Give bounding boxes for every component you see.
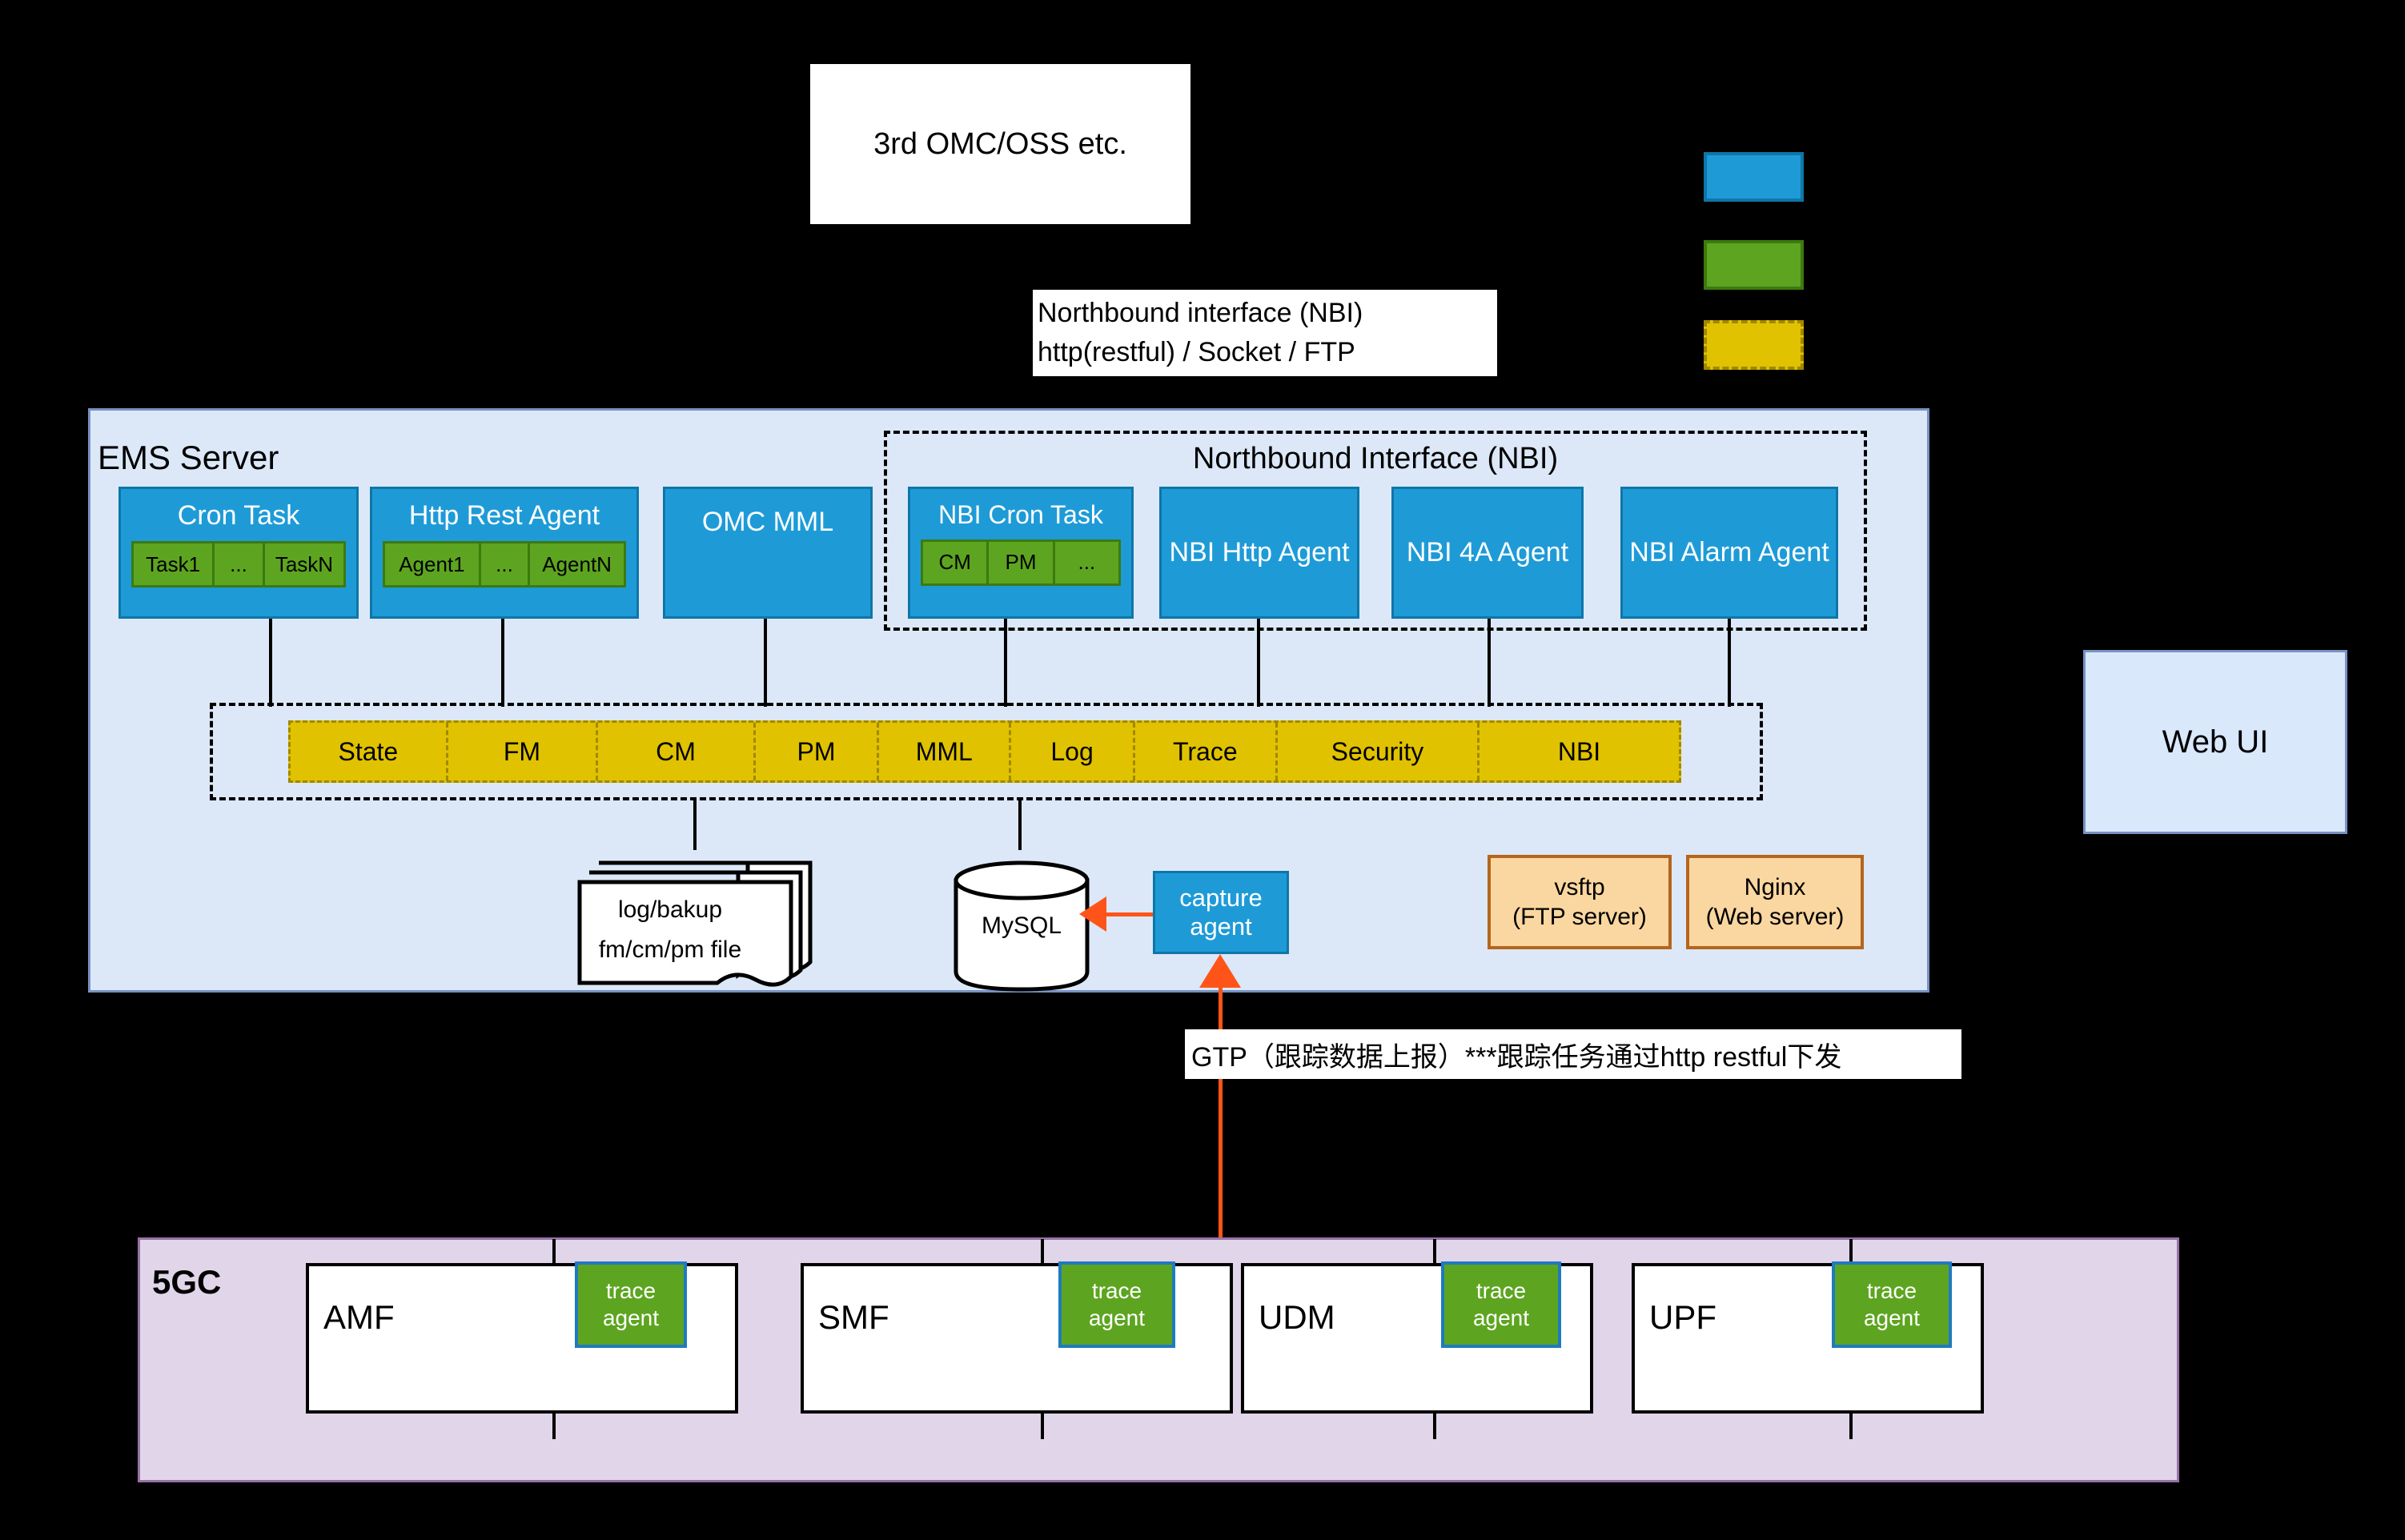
http-rest-agent-sub-2[interactable]: AgentN	[530, 543, 624, 585]
gtp-note: GTP（跟踪数据上报）***跟踪任务通过http restful下发	[1185, 1029, 1961, 1079]
log-backup-line2: fm/cm/pm file	[570, 936, 770, 964]
service-log[interactable]: Log	[1011, 723, 1134, 780]
web-ui-panel[interactable]: Web UI	[2083, 650, 2347, 834]
component-nbi-alarm-agent[interactable]: NBI Alarm Agent	[1620, 487, 1838, 619]
service-bar: State FM CM PM MML Log Trace Security NB…	[288, 720, 1681, 783]
component-capture-agent[interactable]: capture agent	[1153, 871, 1289, 954]
nbi-cron-task-subitems: CM PM ...	[921, 539, 1121, 586]
trace-agent-udm[interactable]: trace agent	[1441, 1261, 1561, 1348]
connector-nbi-cron-task	[1004, 619, 1007, 707]
http-rest-agent-subitems: Agent1 ... AgentN	[383, 541, 626, 588]
connector-servicebar-to-files	[693, 800, 697, 850]
trace-agent-udm-line2: agent	[1473, 1305, 1529, 1332]
service-pm[interactable]: PM	[756, 723, 879, 780]
connector-nbi-alarm-agent	[1728, 619, 1731, 707]
trace-agent-upf-line2: agent	[1864, 1305, 1920, 1332]
capture-agent-line1: capture	[1155, 884, 1287, 912]
cron-task-subitems: Task1 ... TaskN	[131, 541, 346, 588]
nbi-cron-task-sub-2[interactable]: ...	[1055, 542, 1118, 584]
server-vsftp-line1: vsftp	[1554, 872, 1604, 903]
service-fm[interactable]: FM	[448, 723, 598, 780]
trace-agent-amf-line2: agent	[603, 1305, 659, 1332]
service-trace[interactable]: Trace	[1135, 723, 1278, 780]
connector-nbi-4a-agent	[1488, 619, 1491, 707]
trace-agent-amf-line1: trace	[606, 1277, 656, 1305]
core-network-title: 5GC	[152, 1263, 221, 1301]
component-nbi-cron-task-title: NBI Cron Task	[910, 500, 1131, 530]
gtp-trunk-vertical	[1219, 986, 1223, 1245]
connector-nbi-http-agent	[1257, 619, 1260, 707]
trace-agent-smf-line2: agent	[1089, 1305, 1145, 1332]
component-omc-mml-title: OMC MML	[665, 507, 870, 538]
component-nbi-4a-agent[interactable]: NBI 4A Agent	[1391, 487, 1584, 619]
service-nbi[interactable]: NBI	[1480, 723, 1679, 780]
cron-task-sub-1[interactable]: ...	[215, 543, 265, 585]
component-cron-task-title: Cron Task	[121, 500, 356, 531]
component-http-rest-agent-title: Http Rest Agent	[372, 500, 636, 531]
component-nbi-4a-agent-title: NBI 4A Agent	[1376, 537, 1599, 568]
nbi-note-line1: Northbound interface (NBI)	[1038, 294, 1363, 333]
legend-swatch-green	[1704, 240, 1804, 290]
nbi-cron-task-sub-0[interactable]: CM	[923, 542, 989, 584]
trace-agent-upf[interactable]: trace agent	[1832, 1261, 1952, 1348]
nbi-note-line2: http(restful) / Socket / FTP	[1038, 333, 1355, 372]
service-security[interactable]: Security	[1278, 723, 1480, 780]
nbi-cron-task-sub-1[interactable]: PM	[989, 542, 1054, 584]
component-nbi-http-agent[interactable]: NBI Http Agent	[1159, 487, 1359, 619]
legend-swatch-blue	[1704, 152, 1804, 202]
arrow-capture-to-mysql-head	[1079, 896, 1106, 932]
trace-agent-smf-line1: trace	[1092, 1277, 1142, 1305]
gtp-note-label: GTP（跟踪数据上报）***跟踪任务通过http restful下发	[1191, 1035, 1841, 1074]
http-rest-agent-sub-0[interactable]: Agent1	[385, 543, 481, 585]
server-nginx[interactable]: Nginx (Web server)	[1686, 855, 1864, 949]
server-vsftp-line2: (FTP server)	[1512, 902, 1647, 932]
third-party-omc-oss-box: 3rd OMC/OSS etc.	[810, 64, 1190, 224]
web-ui-label: Web UI	[2162, 724, 2269, 760]
capture-agent-line2: agent	[1155, 912, 1287, 941]
service-cm[interactable]: CM	[598, 723, 756, 780]
gtp-trunk-arrowhead	[1199, 954, 1241, 988]
server-nginx-line2: (Web server)	[1706, 902, 1845, 932]
trace-agent-smf[interactable]: trace agent	[1058, 1261, 1175, 1348]
log-backup-line1: log/bakup	[570, 896, 770, 924]
nf-amf-label: AMF	[323, 1298, 395, 1337]
nbi-group-title: Northbound Interface (NBI)	[884, 442, 1867, 476]
legend-swatch-yellow	[1704, 320, 1804, 370]
service-mml[interactable]: MML	[879, 723, 1011, 780]
trace-agent-amf[interactable]: trace agent	[575, 1261, 687, 1348]
mysql-label: MySQL	[951, 912, 1092, 940]
server-vsftp[interactable]: vsftp (FTP server)	[1488, 855, 1672, 949]
log-backup-files: log/bakup fm/cm/pm file	[570, 850, 826, 994]
third-party-omc-oss-label: 3rd OMC/OSS etc.	[873, 127, 1127, 162]
server-nginx-line1: Nginx	[1745, 872, 1806, 903]
service-state[interactable]: State	[291, 723, 448, 780]
cron-task-sub-2[interactable]: TaskN	[265, 543, 343, 585]
component-nbi-cron-task[interactable]: NBI Cron Task CM PM ...	[908, 487, 1134, 619]
connector-cron-task	[269, 619, 272, 707]
ems-server-title: EMS Server	[98, 439, 279, 477]
connector-oss-to-ems	[999, 224, 1002, 408]
cron-task-sub-0[interactable]: Task1	[134, 543, 215, 585]
trace-agent-udm-line1: trace	[1476, 1277, 1526, 1305]
nf-smf-label: SMF	[818, 1298, 889, 1337]
component-omc-mml[interactable]: OMC MML	[663, 487, 873, 619]
mysql-database: MySQL	[951, 860, 1092, 993]
nbi-protocol-note: Northbound interface (NBI) http(restful)…	[1033, 290, 1497, 376]
connector-http-rest-agent	[501, 619, 504, 707]
http-rest-agent-sub-1[interactable]: ...	[481, 543, 530, 585]
connector-omc-mml	[764, 619, 767, 707]
component-nbi-alarm-agent-title: NBI Alarm Agent	[1610, 537, 1849, 568]
nf-udm-label: UDM	[1259, 1298, 1335, 1337]
connector-servicebar-to-mysql	[1018, 800, 1022, 850]
nf-upf-label: UPF	[1649, 1298, 1716, 1337]
component-nbi-http-agent-title: NBI Http Agent	[1147, 537, 1371, 568]
component-http-rest-agent[interactable]: Http Rest Agent Agent1 ... AgentN	[370, 487, 639, 619]
component-cron-task[interactable]: Cron Task Task1 ... TaskN	[118, 487, 359, 619]
trace-agent-upf-line1: trace	[1867, 1277, 1917, 1305]
